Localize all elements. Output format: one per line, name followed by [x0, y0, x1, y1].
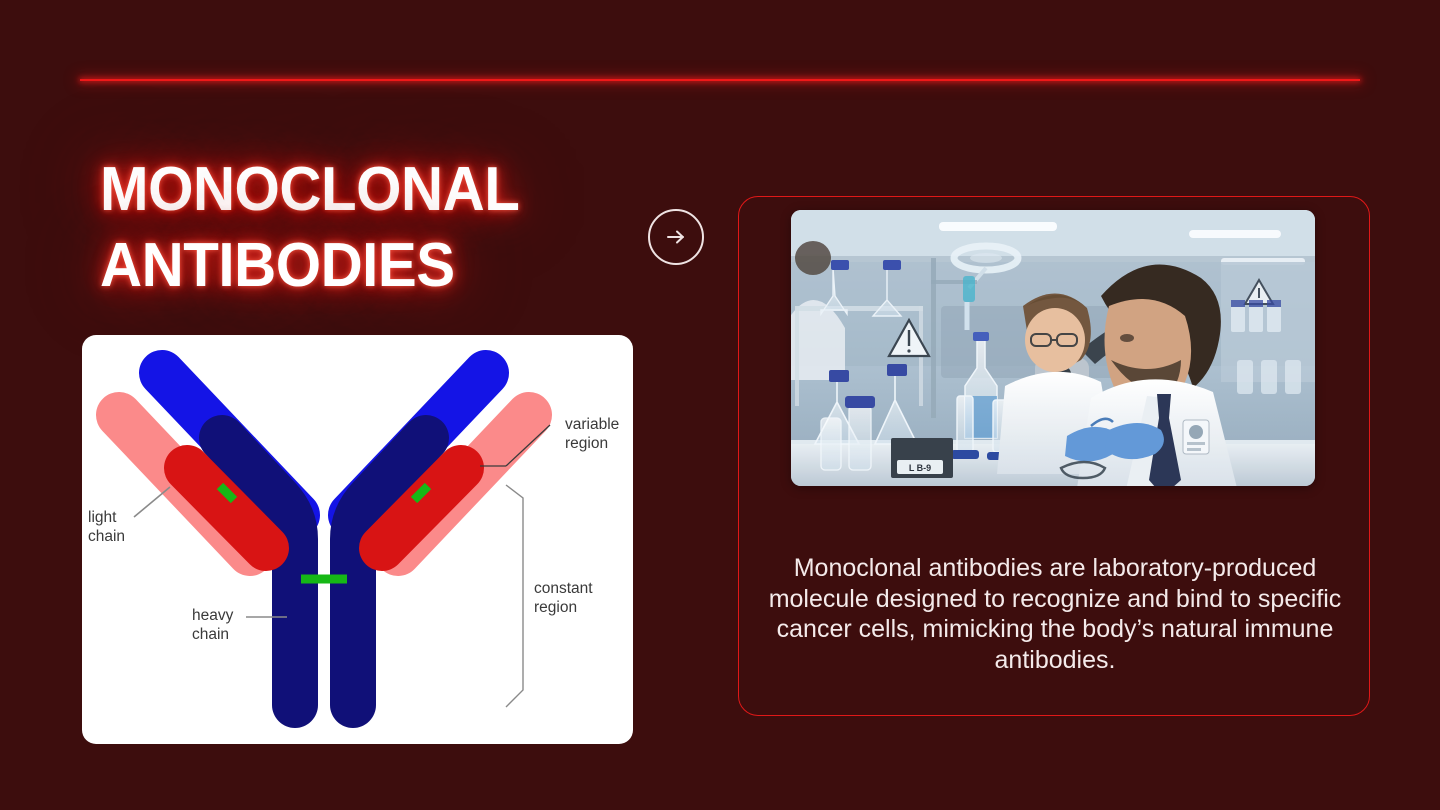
- label-light-chain-line1: light: [88, 509, 117, 526]
- page-title: MONOCLONAL ANTIBODIES: [100, 152, 589, 304]
- slide-root: MONOCLONAL ANTIBODIES: [0, 0, 1440, 810]
- label-constant-region-line2: region: [534, 599, 577, 616]
- label-light-chain-line2: chain: [88, 528, 125, 545]
- label-variable-region-line2: region: [565, 435, 608, 452]
- diagram-label-light-chain: light chain: [88, 509, 125, 545]
- label-variable-region-line1: variable: [565, 416, 619, 433]
- caption-text: Monoclonal antibodies are laboratory-pro…: [759, 553, 1351, 675]
- top-divider-rule: [80, 79, 1360, 81]
- arrow-right-icon: [662, 223, 690, 251]
- label-heavy-chain-line1: heavy: [192, 607, 234, 624]
- antibody-diagram-svg: light chain heavy chain variable region …: [82, 335, 633, 744]
- next-arrow-button[interactable]: [648, 209, 704, 265]
- lab-photo: L B-9: [791, 210, 1315, 486]
- label-constant-region-line1: constant: [534, 580, 593, 597]
- info-card: L B-9: [738, 196, 1370, 716]
- lab-photo-illustration: L B-9: [791, 210, 1315, 486]
- diagram-label-heavy-chain: heavy chain: [192, 607, 234, 643]
- label-heavy-chain-line2: chain: [192, 626, 229, 643]
- leader-line-light-chain: [134, 487, 170, 517]
- bracket-constant-region: [506, 485, 523, 707]
- antibody-diagram-card: light chain heavy chain variable region …: [82, 335, 633, 744]
- diagram-label-variable-region: variable region: [565, 416, 619, 452]
- diagram-label-constant-region: constant region: [534, 580, 593, 616]
